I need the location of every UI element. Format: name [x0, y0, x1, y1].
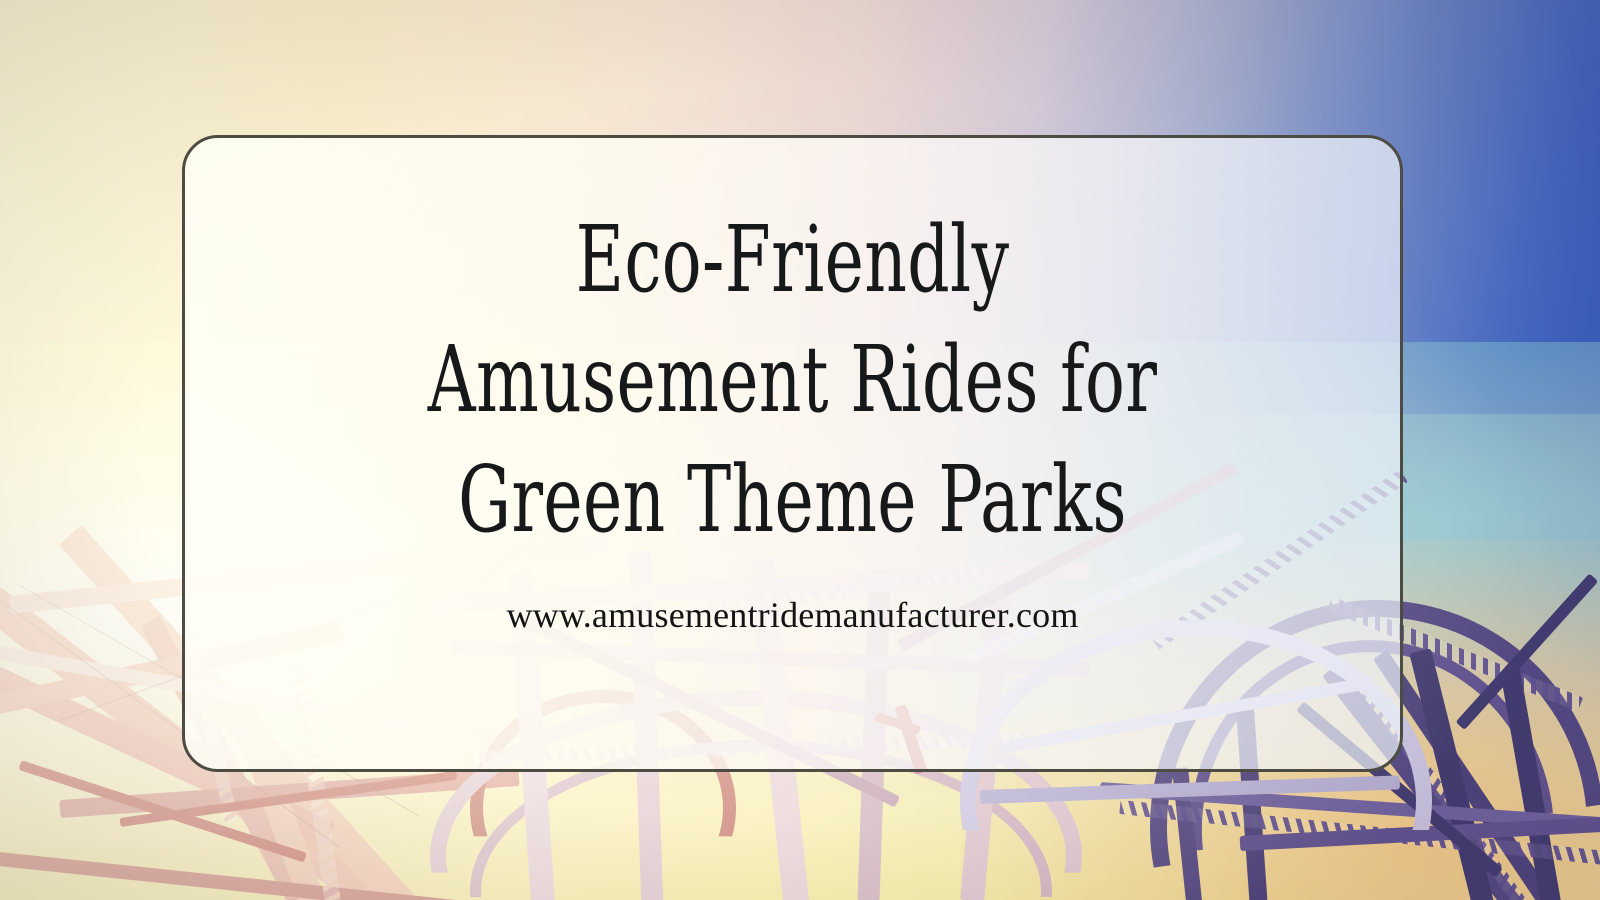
banner-image: Eco-Friendly Amusement Rides for Green T… [0, 0, 1600, 900]
headline-line-1: Eco-Friendly [355, 200, 1230, 320]
page-title: Eco-Friendly Amusement Rides for Green T… [355, 200, 1230, 560]
website-url: www.amusementridemanufacturer.com [185, 560, 1400, 636]
headline-line-3: Green Theme Parks [355, 440, 1230, 560]
headline-card: Eco-Friendly Amusement Rides for Green T… [182, 135, 1403, 772]
headline-line-2: Amusement Rides for [355, 320, 1230, 440]
